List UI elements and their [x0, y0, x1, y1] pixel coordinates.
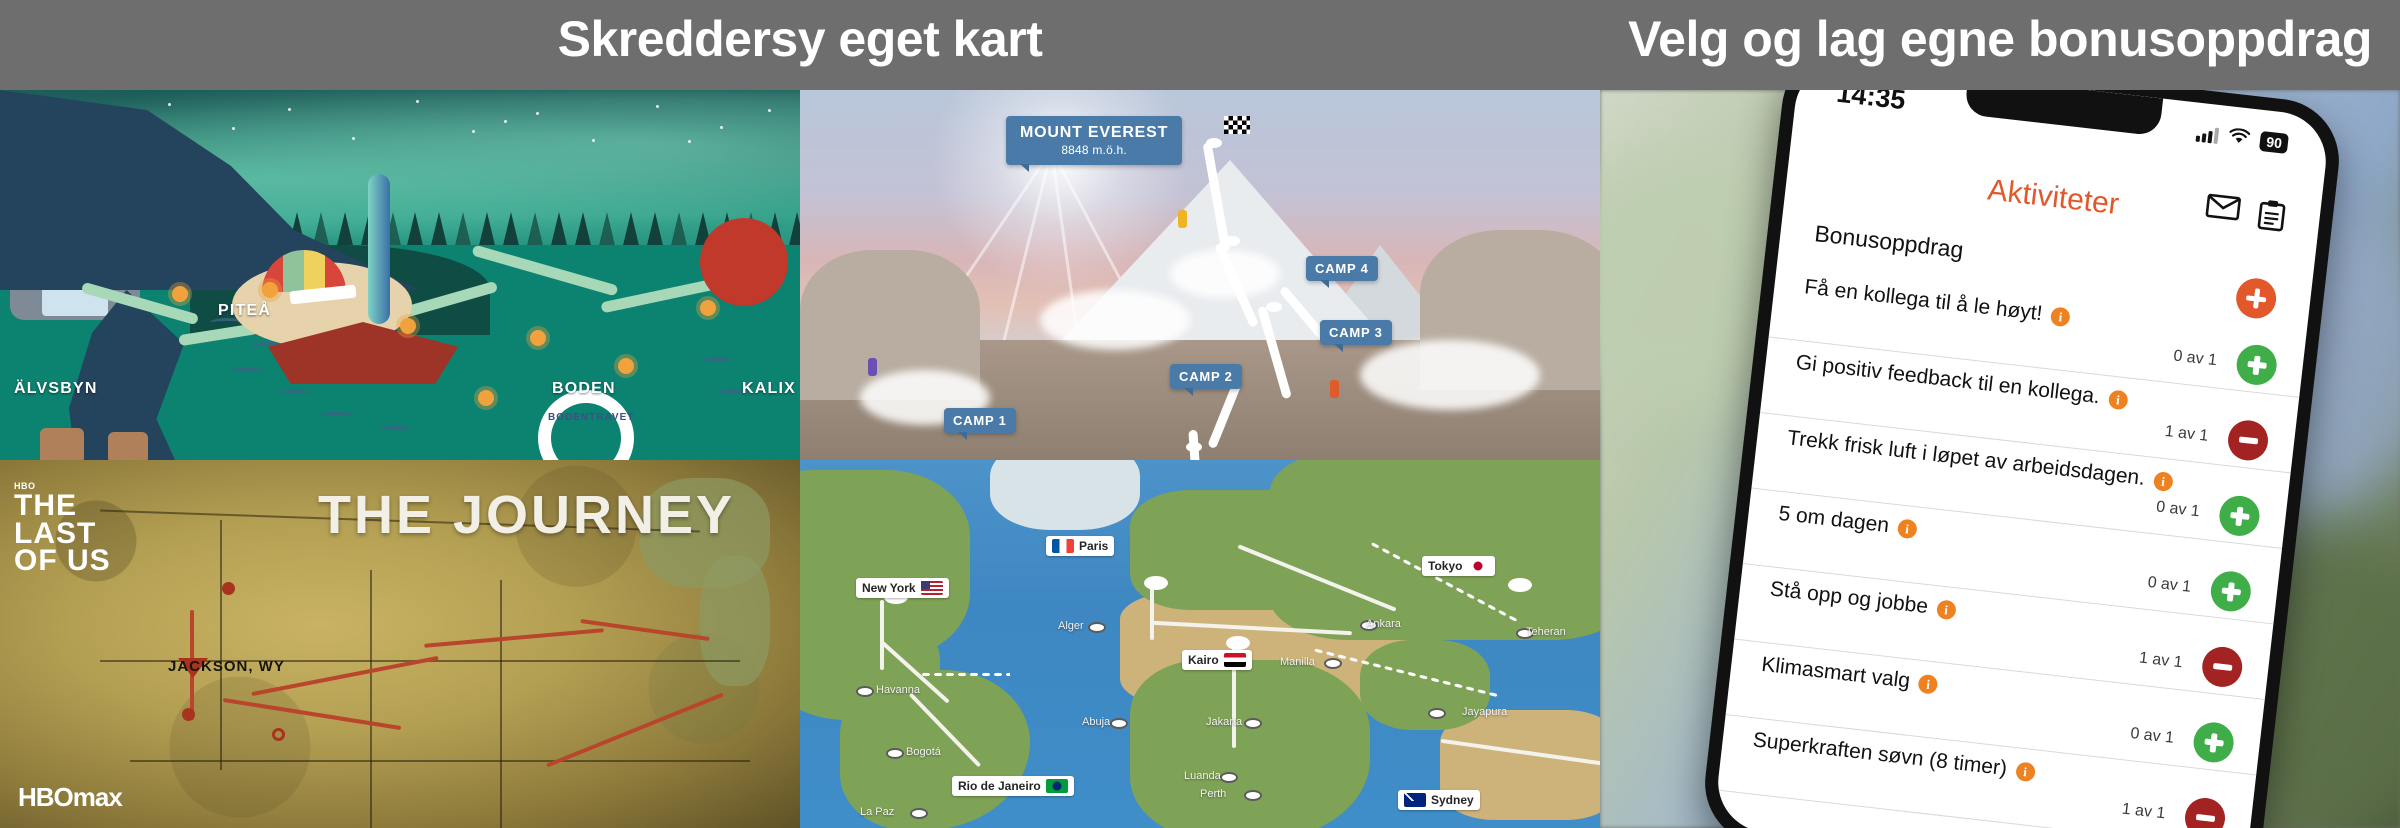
- battery-indicator: 90: [2259, 131, 2289, 154]
- world-label-luanda: Luanda: [1184, 770, 1221, 782]
- increment-button[interactable]: [2191, 720, 2235, 764]
- task-count: 1 av 1: [2138, 650, 2183, 673]
- task-label: Få en kollega til å le høyt!: [1803, 275, 2043, 325]
- world-label-abuja: Abuja: [1082, 716, 1110, 728]
- nordic-map-panel[interactable]: BODENTRAVET ÄLVSBYN PITEÅ LULEÅ BODEN KA…: [0, 90, 800, 460]
- signal-icon: [2196, 126, 2220, 144]
- city-label-pitea: PITEÅ: [218, 302, 271, 320]
- route-stop-dot: [182, 708, 195, 721]
- world-label-text: Tokyo: [1428, 559, 1462, 573]
- world-label-alger: Alger: [1058, 620, 1084, 632]
- everest-summit-tag: MOUNT EVEREST 8848 m.ö.h.: [1006, 116, 1182, 165]
- world-label-la-paz: La Paz: [860, 806, 894, 818]
- phone-screen[interactable]: 14:35 90 Aktivite: [1713, 90, 2331, 828]
- tlou-map-panel[interactable]: HBO THE LAST OF US THE JOURNEY JACKSON, …: [0, 460, 800, 828]
- br-flag-icon: [1046, 779, 1068, 793]
- climber-icon: [1330, 380, 1339, 398]
- world-label-paris[interactable]: Paris: [1046, 536, 1114, 556]
- moose-icon: [40, 428, 84, 460]
- water-slide-icon: [368, 174, 390, 324]
- city-label-jackson: JACKSON, WY: [168, 658, 285, 675]
- increment-button[interactable]: [2209, 569, 2253, 613]
- camp-1-tag: CAMP 1: [944, 408, 1016, 433]
- world-route: [880, 600, 884, 670]
- info-icon[interactable]: i: [1918, 674, 1939, 695]
- asia: [1270, 460, 1600, 640]
- info-icon[interactable]: i: [1897, 518, 1918, 539]
- everest-title: MOUNT EVEREST: [1020, 124, 1168, 141]
- climber-icon: [1178, 210, 1187, 228]
- jp-flag-icon: [1467, 559, 1489, 573]
- task-count: 0 av 1: [2172, 347, 2217, 370]
- task-label: Stå opp og jobbe: [1769, 577, 1929, 618]
- world-label-tokyo[interactable]: Tokyo: [1422, 556, 1495, 576]
- logo-line-1: THE: [14, 492, 111, 520]
- task-count: 1 av 1: [2164, 423, 2209, 446]
- world-label-new-york[interactable]: New York: [856, 578, 949, 598]
- route-stop-dot: [272, 728, 285, 741]
- route-stop-dot: [222, 582, 235, 595]
- city-label-alvsbyn: ÄLVSBYN: [14, 380, 98, 398]
- task-count: 1 av 1: [2121, 801, 2166, 824]
- greenland: [990, 460, 1140, 530]
- fr-flag-icon: [1052, 539, 1074, 553]
- world-stop-node: [1226, 636, 1250, 650]
- bonus-task-list: Få en kollega til å le høyt!i 0 av 1 Gi …: [1717, 262, 2308, 828]
- wifi-icon: [2227, 127, 2251, 150]
- info-icon[interactable]: i: [2108, 389, 2129, 410]
- world-label-text: Paris: [1079, 539, 1108, 553]
- world-route-dotted: [920, 672, 1010, 677]
- world-label-rio[interactable]: Rio de Janeiro: [952, 776, 1074, 796]
- mail-icon[interactable]: [2204, 192, 2242, 233]
- summit-flag-icon: [1224, 116, 1250, 134]
- camp-2-tag: CAMP 2: [1170, 364, 1242, 389]
- city-label-boden: BODEN: [552, 380, 616, 398]
- world-label-jakarta: Jakarta: [1206, 716, 1242, 728]
- africa: [1130, 660, 1370, 828]
- decrement-button[interactable]: [2183, 796, 2227, 828]
- world-stop-node: [1144, 576, 1168, 590]
- world-label-manilla: Manilla: [1280, 656, 1315, 668]
- climber-icon: [868, 358, 877, 376]
- world-label-kairo[interactable]: Kairo: [1182, 650, 1252, 670]
- world-label-text: New York: [862, 581, 916, 595]
- world-map-panel[interactable]: New York Paris Kairo Rio de Janeiro Toky…: [800, 460, 1600, 828]
- everest-map-panel[interactable]: MOUNT EVEREST 8848 m.ö.h. CAMP 4 CAMP 3 …: [800, 90, 1600, 460]
- clipboard-icon[interactable]: [2255, 198, 2287, 238]
- city-label-kalix: KALIX: [742, 380, 796, 398]
- increment-button[interactable]: [2235, 343, 2279, 387]
- header-title-right: Velg og lag egne bonusoppdrag: [1600, 10, 2400, 68]
- task-label: Klimasmart valg: [1760, 653, 1911, 693]
- logo-line-2: LAST: [14, 520, 111, 548]
- info-icon[interactable]: i: [2050, 306, 2071, 327]
- tlou-title: THE JOURNEY: [318, 484, 735, 546]
- dome-landmark-icon: [700, 218, 788, 306]
- world-label-ankara: Ankara: [1366, 618, 1401, 630]
- increment-button[interactable]: [2217, 494, 2261, 538]
- task-label: 5 om dagen: [1777, 502, 1890, 537]
- camp-3-tag: CAMP 3: [1320, 320, 1392, 345]
- world-label-havanna: Havanna: [876, 684, 920, 696]
- info-icon[interactable]: i: [2153, 471, 2174, 492]
- camp-4-tag: CAMP 4: [1306, 256, 1378, 281]
- task-count: 0 av 1: [2147, 574, 2192, 597]
- world-label-teheran: Teheran: [1526, 626, 1566, 638]
- bodentravet-label: BODENTRAVET: [548, 412, 628, 423]
- everest-altitude: 8848 m.ö.h.: [1020, 143, 1168, 158]
- decrement-button[interactable]: [2226, 418, 2270, 462]
- phone-device: 14:35 90 Aktivite: [1699, 90, 2346, 828]
- world-label-bogota: Bogotá: [906, 746, 941, 758]
- eg-flag-icon: [1224, 653, 1246, 667]
- section-title: Bonusoppdrag: [1813, 220, 1965, 264]
- info-icon[interactable]: i: [1936, 599, 1957, 620]
- au-flag-icon: [1404, 793, 1426, 807]
- task-count: 0 av 1: [2129, 725, 2174, 748]
- logo-line-3: OF US: [14, 547, 111, 575]
- hbomax-logo: HBOmax: [18, 782, 122, 813]
- header-bar: Skreddersy eget kart Velg og lag egne bo…: [0, 0, 2400, 90]
- us-flag-icon: [921, 581, 943, 595]
- world-label-perth: Perth: [1200, 788, 1226, 800]
- info-icon[interactable]: i: [2015, 761, 2036, 782]
- world-label-text: Sydney: [1431, 793, 1474, 807]
- status-time: 14:35: [1835, 90, 1907, 116]
- page-title: Aktiviteter: [1986, 173, 2121, 222]
- world-label-text: Rio de Janeiro: [958, 779, 1041, 793]
- screenshot-root: Skreddersy eget kart Velg og lag egne bo…: [0, 0, 2400, 828]
- world-label-text: Kairo: [1188, 653, 1219, 667]
- phone-mockup-panel[interactable]: 14:35 90 Aktivite: [1600, 90, 2400, 828]
- world-label-sydney[interactable]: Sydney: [1398, 790, 1480, 810]
- great-lakes: [700, 556, 770, 686]
- last-of-us-logo: HBO THE LAST OF US: [14, 482, 111, 575]
- decrement-button[interactable]: [2200, 645, 2244, 689]
- moose-icon: [108, 432, 148, 460]
- world-label-jayapura: Jayapura: [1462, 706, 1507, 718]
- world-stop-node: [1508, 578, 1532, 592]
- task-count: 0 av 1: [2155, 498, 2200, 521]
- header-title-left: Skreddersy eget kart: [0, 10, 1600, 68]
